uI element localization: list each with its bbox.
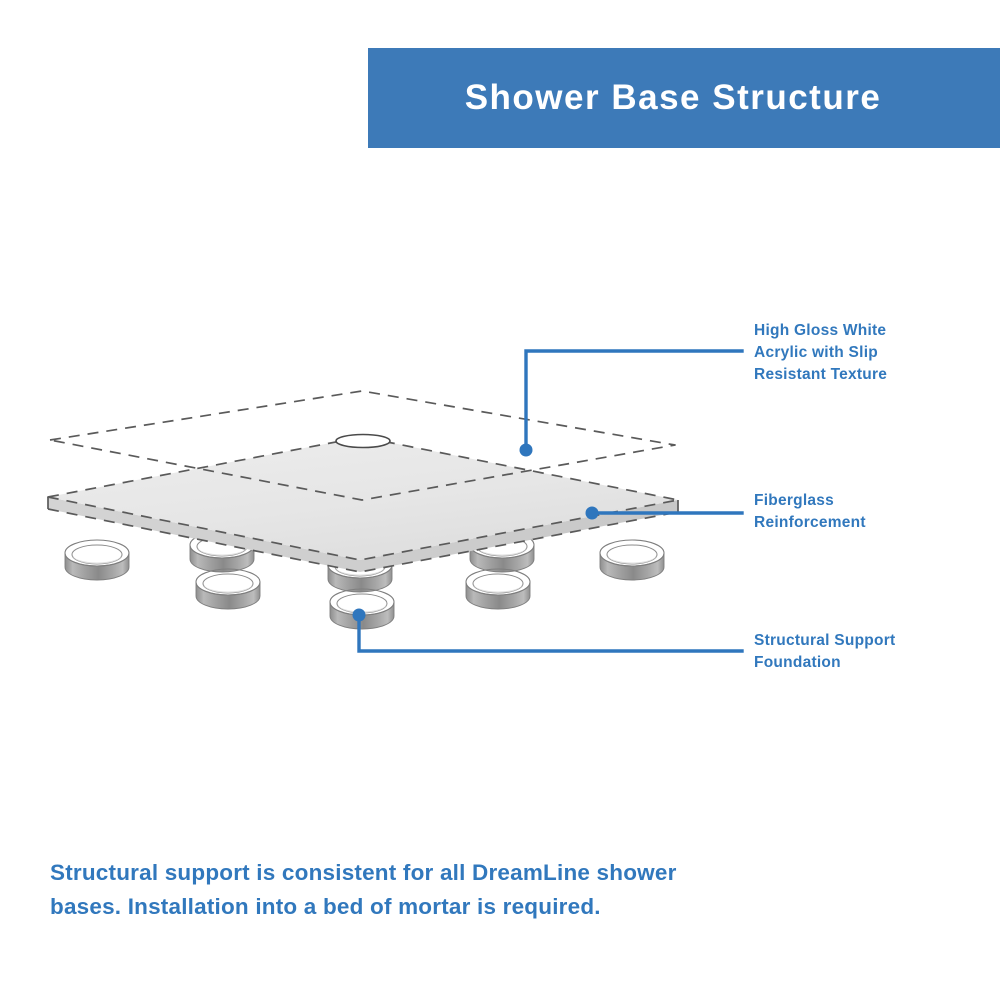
support-ring	[470, 532, 534, 572]
support-ring	[190, 532, 254, 572]
leader-line-acrylic	[526, 351, 742, 450]
acrylic-layer	[50, 391, 675, 500]
infographic-root: Shower Base Structure	[0, 0, 1000, 1000]
leader-dot-acrylic	[520, 444, 533, 457]
page-title: Shower Base Structure	[368, 48, 1000, 148]
fiberglass-slab	[48, 437, 678, 572]
leader-line-support	[359, 615, 742, 651]
support-ring	[196, 569, 260, 609]
callout-leader-lines	[353, 351, 743, 651]
callout-label-support: Structural Support Foundation	[754, 630, 954, 674]
support-ring	[328, 552, 392, 592]
support-ring	[65, 540, 129, 580]
callout-label-fiberglass: Fiberglass Reinforcement	[754, 490, 954, 534]
drain-opening-ellipse	[336, 435, 390, 448]
leader-dot-fiberglass	[586, 507, 599, 520]
support-ring	[466, 569, 530, 609]
support-ring	[600, 540, 664, 580]
leader-dot-support	[353, 609, 366, 622]
footer-caption: Structural support is consistent for all…	[50, 856, 690, 924]
support-ring-array	[65, 532, 664, 629]
support-ring	[330, 589, 394, 629]
callout-label-acrylic: High Gloss White Acrylic with Slip Resis…	[754, 320, 954, 386]
title-banner: Shower Base Structure	[368, 48, 1000, 148]
